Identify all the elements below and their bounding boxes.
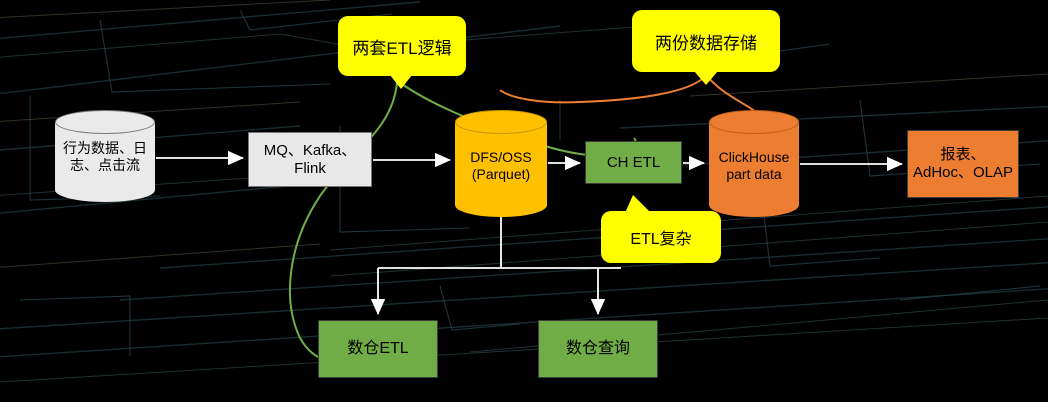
node-output-label: 报表、AdHoc、OLAP <box>912 146 1014 181</box>
node-mq-label: MQ、Kafka、Flink <box>255 142 365 177</box>
node-source-label: 行为数据、日志、点击流 <box>55 110 155 190</box>
callout-etl-complex-label: ETL复杂 <box>630 225 691 249</box>
node-dw-etl-box[interactable]: 数仓ETL <box>318 320 438 378</box>
diagram-canvas: 行为数据、日志、点击流 MQ、Kafka、Flink DFS/OSS (Parq… <box>0 0 1048 402</box>
callout-etl-complex[interactable]: ETL复杂 <box>601 211 721 263</box>
fork-dfs-downstream <box>378 216 621 300</box>
callout-two-etl[interactable]: 两套ETL逻辑 <box>338 16 466 76</box>
callout-two-storage-label: 两份数据存储 <box>655 29 757 54</box>
node-dfs-label: DFS/OSS (Parquet) <box>455 110 547 205</box>
callout-two-etl-label: 两套ETL逻辑 <box>352 34 451 59</box>
node-ch-etl-label: CH ETL <box>607 154 660 172</box>
node-source-cylinder[interactable]: 行为数据、日志、点击流 <box>55 110 155 190</box>
orange-line-to-dfs <box>500 77 704 102</box>
callout-two-storage[interactable]: 两份数据存储 <box>632 10 780 72</box>
node-dfs-cylinder[interactable]: DFS/OSS (Parquet) <box>455 110 547 205</box>
node-clickhouse-cylinder[interactable]: ClickHouse part data <box>709 110 799 205</box>
callout-two-storage-pointer <box>694 71 718 85</box>
node-ch-etl-box[interactable]: CH ETL <box>585 141 682 184</box>
green-line-to-dwetl <box>290 82 397 360</box>
node-dw-etl-label: 数仓ETL <box>347 340 408 359</box>
node-clickhouse-label: ClickHouse part data <box>709 110 799 205</box>
node-dw-query-label: 数仓查询 <box>566 340 630 359</box>
node-dw-query-box[interactable]: 数仓查询 <box>538 320 658 378</box>
callout-etl-complex-pointer <box>625 195 651 213</box>
node-mq-box[interactable]: MQ、Kafka、Flink <box>248 132 372 187</box>
callout-two-etl-pointer <box>390 75 412 89</box>
node-output-box[interactable]: 报表、AdHoc、OLAP <box>907 130 1019 198</box>
